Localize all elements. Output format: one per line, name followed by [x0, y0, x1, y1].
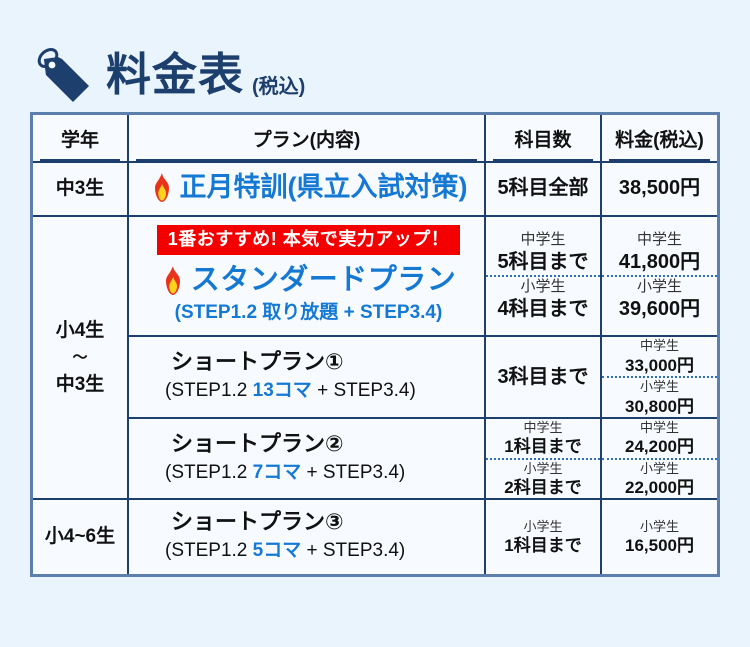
price-tag-icon [32, 45, 94, 103]
plan-cell: 1番おすすめ! 本気で実力アップ！ スタンダードプラン (STEP1.2 取り放… [128, 216, 485, 337]
plan-subtitle-prefix: (STEP1.2 [165, 380, 253, 401]
column-header-subjects: 科目数 [485, 115, 601, 162]
price-label: 小学生 [602, 378, 717, 396]
subjects-label: 小学生 [486, 460, 600, 478]
plan-cell: ショートプラン② (STEP1.2 7コマ + STEP3.4) [128, 418, 485, 500]
grade-cell: 小4生 〜 中3生 [33, 216, 128, 500]
plan-subtitle: (STEP1.2 7コマ + STEP3.4) [143, 461, 474, 486]
price-sub-row: 小学生 30,800円 [602, 377, 717, 417]
price-cell: 中学生 41,800円 小学生 39,600円 [601, 216, 717, 337]
pricing-table-container: 学年 プラン(内容) 科目数 料金(税込) 中3生 正月特訓(県立入試対策) 5… [30, 112, 720, 577]
fire-icon [161, 266, 185, 295]
plan-title: スタンダードプラン [143, 262, 474, 298]
price-sub-row: 中学生 41,800円 [602, 230, 717, 276]
plan-subtitle: (STEP1.2 13コマ + STEP3.4) [143, 379, 474, 404]
plan-subtitle-highlight: 取り放題 [262, 302, 338, 323]
subjects-value: 1科目まで [504, 437, 581, 456]
grade-cell: 小4~6生 [33, 499, 128, 573]
table-row: ショートプラン② (STEP1.2 7コマ + STEP3.4) 中学生 1科目… [33, 418, 717, 500]
plan-title: ショートプラン③ [143, 508, 474, 537]
table-header-row: 学年 プラン(内容) 科目数 料金(税込) [33, 115, 717, 162]
plan-subtitle-suffix: + STEP3.4) [338, 302, 442, 323]
subjects-label: 小学生 [486, 277, 600, 297]
plan-subtitle-suffix: + STEP3.4) [301, 462, 405, 483]
price-value: 22,000円 [625, 478, 694, 497]
price-value: 30,800円 [625, 397, 694, 416]
plan-subtitle-suffix: + STEP3.4) [312, 380, 416, 401]
price-cell: 小学生 16,500円 [601, 499, 717, 573]
grade-tilde: 〜 [33, 349, 127, 367]
plan-subtitle-prefix: (STEP1.2 [165, 540, 253, 561]
plan-cell: ショートプラン③ (STEP1.2 5コマ + STEP3.4) [128, 499, 485, 573]
subjects-cell: 中学生 1科目まで 小学生 2科目まで [485, 418, 601, 500]
fire-icon [150, 173, 174, 202]
plan-cell: ショートプラン① (STEP1.2 13コマ + STEP3.4) [128, 336, 485, 418]
subjects-value: 2科目まで [504, 478, 581, 497]
page-header: 料金表 (税込) [0, 0, 750, 112]
subjects-cell: 5科目全部 [485, 162, 601, 216]
price-value: 16,500円 [625, 536, 694, 555]
subjects-cell: 中学生 5科目まで 小学生 4科目まで [485, 216, 601, 337]
subjects-sub-row: 中学生 1科目まで [486, 419, 600, 459]
price-label: 小学生 [606, 518, 713, 536]
price-cell: 38,500円 [601, 162, 717, 216]
price-label: 中学生 [602, 230, 717, 250]
subjects-sub-row: 中学生 5科目まで [486, 230, 600, 276]
price-cell: 中学生 33,000円 小学生 30,800円 [601, 336, 717, 418]
plan-subtitle-highlight: 13コマ [253, 380, 312, 401]
table-row: 小4生 〜 中3生 1番おすすめ! 本気で実力アップ！ スタンダードプラン (S… [33, 216, 717, 337]
price-label: 小学生 [602, 277, 717, 297]
grade-line-1: 小4生 [56, 320, 105, 341]
plan-subtitle: (STEP1.2 5コマ + STEP3.4) [143, 539, 474, 564]
pricing-page: 料金表 (税込) 学年 プラン(内容) 科目数 料金(税込) 中3生 [0, 0, 750, 647]
plan-title-text: スタンダードプラン [191, 264, 457, 296]
price-value: 41,800円 [619, 251, 700, 273]
price-sub-row: 小学生 39,600円 [602, 276, 717, 322]
column-header-price: 料金(税込) [601, 115, 717, 162]
subjects-sub-row: 小学生 4科目まで [486, 276, 600, 322]
plan-cell: 正月特訓(県立入試対策) [128, 162, 485, 216]
pricing-table: 学年 プラン(内容) 科目数 料金(税込) 中3生 正月特訓(県立入試対策) 5… [33, 115, 717, 574]
price-label: 中学生 [602, 419, 717, 437]
table-row: 小4~6生 ショートプラン③ (STEP1.2 5コマ + STEP3.4) 小… [33, 499, 717, 573]
column-header-plan: プラン(内容) [128, 115, 485, 162]
price-sub-row: 中学生 33,000円 [602, 337, 717, 377]
plan-subtitle-prefix: (STEP1.2 [165, 462, 253, 483]
price-value: 39,600円 [619, 298, 700, 320]
subjects-label: 中学生 [486, 419, 600, 437]
price-value: 33,000円 [625, 356, 694, 375]
plan-title-text: 正月特訓(県立入試対策) [180, 172, 468, 202]
price-label: 小学生 [602, 460, 717, 478]
subjects-label: 小学生 [490, 518, 596, 536]
page-title: 料金表 [106, 52, 244, 97]
plan-subtitle-suffix: + STEP3.4) [301, 540, 405, 561]
price-cell: 中学生 24,200円 小学生 22,000円 [601, 418, 717, 500]
table-row: ショートプラン① (STEP1.2 13コマ + STEP3.4) 3科目まで … [33, 336, 717, 418]
grade-cell: 中3生 [33, 162, 128, 216]
plan-subtitle-highlight: 5コマ [253, 540, 302, 561]
subjects-sub-row: 小学生 2科目まで [486, 459, 600, 499]
subjects-cell: 小学生 1科目まで [485, 499, 601, 573]
table-row: 中3生 正月特訓(県立入試対策) 5科目全部 38,500円 [33, 162, 717, 216]
plan-title: ショートプラン② [143, 430, 474, 459]
plan-title: 正月特訓(県立入試対策) [143, 171, 474, 205]
grade-line-2: 中3生 [56, 374, 105, 395]
plan-subtitle-prefix: (STEP1.2 [175, 302, 263, 323]
plan-subtitle: (STEP1.2 取り放題 + STEP3.4) [143, 301, 474, 326]
subjects-value: 4科目まで [497, 298, 588, 320]
price-sub-row: 中学生 24,200円 [602, 419, 717, 459]
column-header-grade: 学年 [33, 115, 128, 162]
subjects-value: 1科目まで [504, 536, 581, 555]
price-label: 中学生 [602, 337, 717, 355]
price-sub-row: 小学生 22,000円 [602, 459, 717, 499]
plan-title: ショートプラン① [143, 348, 474, 377]
subjects-label: 中学生 [486, 230, 600, 250]
recommended-badge: 1番おすすめ! 本気で実力アップ！ [157, 225, 461, 256]
price-value: 24,200円 [625, 437, 694, 456]
plan-subtitle-highlight: 7コマ [253, 462, 302, 483]
subjects-value: 5科目まで [497, 251, 588, 273]
page-title-subtitle: (税込) [252, 70, 305, 99]
subjects-cell: 3科目まで [485, 336, 601, 418]
